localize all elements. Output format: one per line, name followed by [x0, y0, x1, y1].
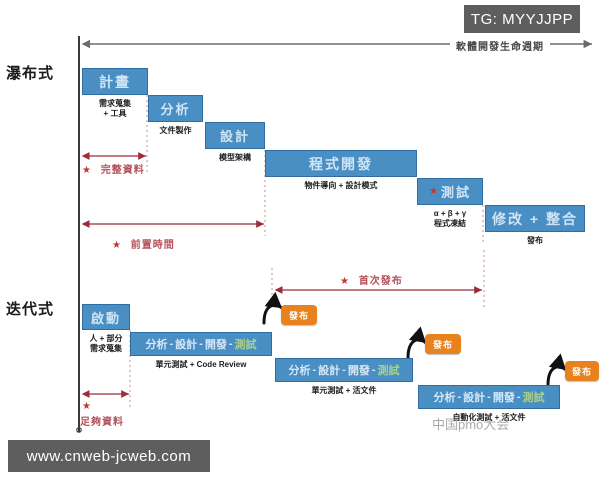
iteration-2-seg-testing: 測試: [378, 362, 400, 378]
phase-caption-fix-integration: 發布: [485, 236, 585, 246]
annotation-first-release-label: 首次發布: [359, 276, 403, 287]
annotation-lead-time: ★ 前置時間: [112, 236, 175, 251]
phase-caption-development: 物件導向 + 設計模式: [265, 181, 417, 191]
site-badge: www.cnweb-jcweb.com: [8, 440, 210, 472]
section-label-waterfall: 瀑布式: [6, 62, 54, 83]
phase-bar-testing[interactable]: ★ 測試: [417, 178, 483, 205]
phase-caption-testing: α + β + γ程式凍結: [417, 209, 483, 229]
hook-arrow-release-3: [548, 367, 566, 385]
iteration-3-seg-development: 開發: [493, 389, 515, 405]
phase-bar-analysis[interactable]: 分析: [148, 95, 203, 122]
release-badge-1[interactable]: 發布: [281, 305, 317, 325]
iteration-2-sep-3: -: [370, 364, 378, 376]
phase-bar-plan-label: 計畫: [99, 72, 131, 92]
iteration-2-sep-1: -: [310, 364, 318, 376]
diagram-canvas: 軟體開發生命週期 瀑布式 迭代式 計畫 需求蒐集+ 工具 分析 文件製作 設計 …: [0, 0, 600, 480]
conference-watermark: 中国pmo大会: [432, 414, 509, 433]
section-label-iterative: 迭代式: [6, 298, 54, 319]
phase-bar-testing-label: 測試: [441, 182, 471, 201]
lifecycle-axis-label: 軟體開發生命週期: [450, 38, 550, 53]
annotation-enough-data-label: 足夠資料: [80, 417, 124, 428]
iteration-bar-2[interactable]: 分析 - 設計 - 開發 - 測試: [275, 358, 413, 382]
phase-caption-design: 模型架構: [205, 153, 265, 163]
iteration-1-seg-testing: 測試: [235, 336, 257, 352]
iteration-3-sep-1: -: [455, 391, 463, 403]
phase-bar-analysis-label: 分析: [160, 99, 190, 118]
release-badge-3[interactable]: 發布: [565, 361, 599, 381]
iteration-caption-kickoff: 人 + 部分需求蒐集: [78, 334, 134, 354]
hook-arrow-release-1: [264, 305, 282, 323]
iteration-3-sep-2: -: [485, 391, 493, 403]
iteration-3-seg-analysis: 分析: [433, 389, 455, 405]
iteration-3-seg-design: 設計: [463, 389, 485, 405]
phase-bar-plan[interactable]: 計畫: [82, 68, 148, 95]
annotation-lead-time-label: 前置時間: [131, 240, 175, 251]
iteration-1-sep-3: -: [227, 338, 235, 350]
phase-bar-development-label: 程式開發: [309, 154, 373, 174]
star-icon-enough-data: ★: [82, 401, 92, 412]
iteration-2-seg-analysis: 分析: [288, 362, 310, 378]
star-icon-testing: ★: [429, 186, 438, 197]
iteration-bar-kickoff-label: 啟動: [91, 308, 121, 327]
iteration-2-sep-2: -: [340, 364, 348, 376]
iteration-1-seg-design: 設計: [175, 336, 197, 352]
iteration-3-seg-testing: 測試: [523, 389, 545, 405]
hook-arrow-release-2: [408, 340, 426, 358]
release-badge-2[interactable]: 發布: [425, 334, 461, 354]
iteration-1-sep-1: -: [167, 338, 175, 350]
iteration-caption-2: 單元測試 + 活文件: [275, 386, 413, 396]
tg-badge: TG: MYYJJPP: [464, 5, 580, 33]
iteration-2-seg-development: 開發: [348, 362, 370, 378]
annotation-enough-data: ★ 足夠資料: [80, 413, 124, 428]
star-icon-first-release: ★: [340, 276, 350, 287]
iteration-bar-3[interactable]: 分析 - 設計 - 開發 - 測試: [418, 385, 560, 409]
phase-bar-fix-integration-label: 修改 + 整合: [492, 209, 578, 229]
iteration-bar-kickoff[interactable]: 啟動: [82, 304, 130, 330]
annotation-complete-data-label: 完整資料: [101, 165, 145, 176]
star-icon-complete-data: ★: [82, 165, 92, 176]
iteration-1-seg-analysis: 分析: [145, 336, 167, 352]
iteration-3-sep-3: -: [515, 391, 523, 403]
phase-bar-fix-integration[interactable]: 修改 + 整合: [485, 205, 585, 232]
phase-caption-analysis: 文件製作: [148, 126, 203, 136]
phase-bar-design-label: 設計: [220, 126, 250, 145]
iteration-bar-1[interactable]: 分析 - 設計 - 開發 - 測試: [130, 332, 272, 356]
phase-caption-plan: 需求蒐集+ 工具: [82, 99, 148, 119]
iteration-1-sep-2: -: [197, 338, 205, 350]
iteration-caption-1: 單元測試 + Code Review: [130, 360, 272, 370]
iteration-2-seg-design: 設計: [318, 362, 340, 378]
annotation-complete-data: ★ 完整資料: [82, 161, 145, 176]
iteration-1-seg-development: 開發: [205, 336, 227, 352]
star-icon-lead-time: ★: [112, 240, 122, 251]
phase-bar-development[interactable]: 程式開發: [265, 150, 417, 177]
phase-bar-design[interactable]: 設計: [205, 122, 265, 149]
annotation-first-release: ★ 首次發布: [340, 272, 403, 287]
